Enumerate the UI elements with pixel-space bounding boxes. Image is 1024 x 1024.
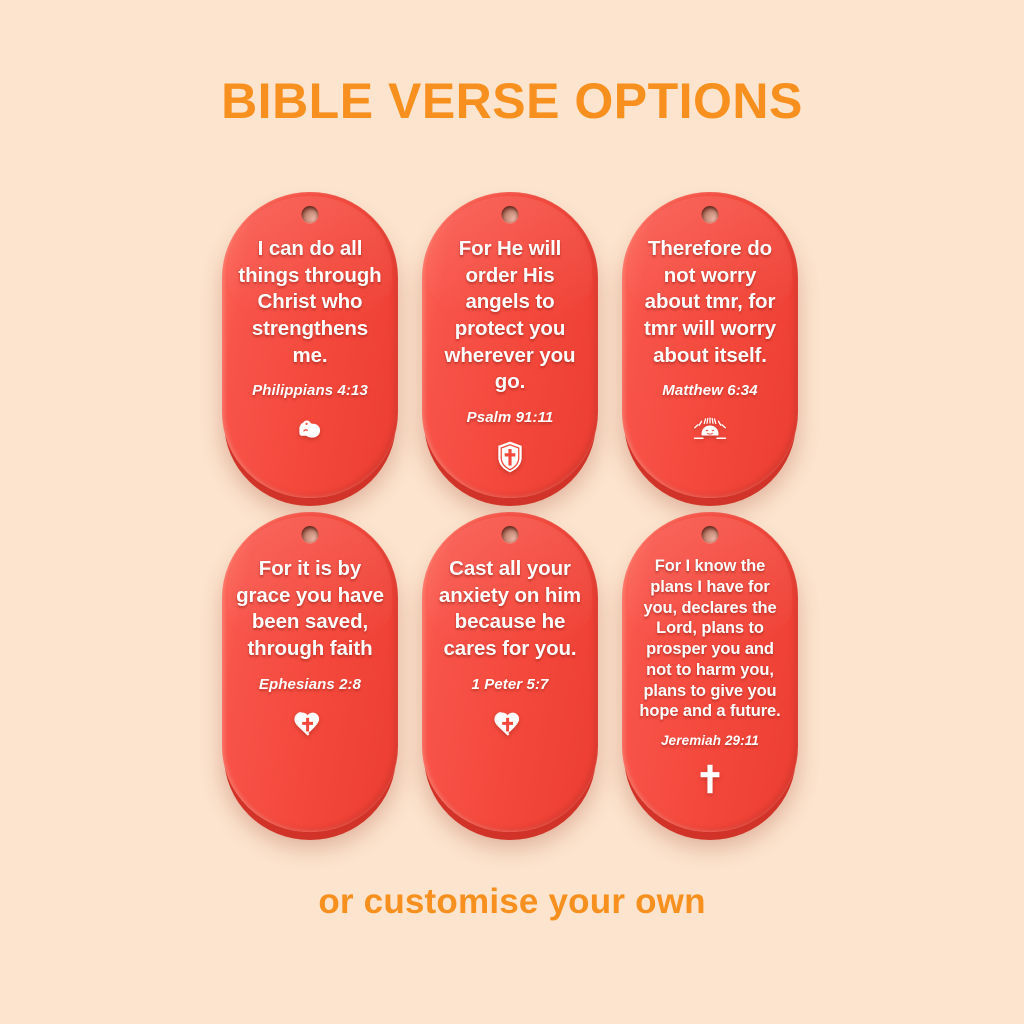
dog-tag-body[interactable]: Cast all your anxiety on him because he …	[422, 512, 598, 832]
tag-hole	[502, 526, 519, 543]
verse-text: For it is by grace you have been saved, …	[232, 556, 388, 663]
dog-tag-body[interactable]: Therefore do not worry about tmr, for tm…	[622, 192, 798, 498]
verse-reference: 1 Peter 5:7	[472, 676, 549, 693]
verse-reference: Matthew 6:34	[662, 382, 757, 399]
tag-hole	[702, 526, 719, 543]
verse-text: For I know the plans I have for you, dec…	[632, 556, 788, 722]
flexed-bicep-icon	[292, 412, 328, 448]
tag-option-5[interactable]: Cast all your anxiety on him because he …	[422, 512, 598, 832]
tag-hole	[502, 206, 519, 223]
tag-option-1[interactable]: I can do all things through Christ who s…	[222, 192, 398, 498]
tag-content: I can do all things through Christ who s…	[222, 192, 398, 498]
bible-verse-options-poster: BIBLE VERSE OPTIONS I can do all things …	[0, 0, 1024, 1024]
heart-cross-icon	[292, 706, 328, 742]
tag-content: For He will order His angels to protect …	[422, 192, 598, 498]
verse-text: Therefore do not worry about tmr, for tm…	[632, 236, 788, 369]
shield-cross-icon	[492, 439, 528, 475]
tag-option-2[interactable]: For He will order His angels to protect …	[422, 192, 598, 498]
tag-option-3[interactable]: Therefore do not worry about tmr, for tm…	[622, 192, 798, 498]
tag-content: For it is by grace you have been saved, …	[222, 512, 398, 832]
verse-reference: Psalm 91:11	[467, 409, 554, 426]
verse-reference: Ephesians 2:8	[259, 676, 361, 693]
verse-reference: Philippians 4:13	[252, 382, 368, 399]
verse-text: For He will order His angels to protect …	[432, 236, 588, 396]
dog-tag-body[interactable]: For it is by grace you have been saved, …	[222, 512, 398, 832]
tag-content: Cast all your anxiety on him because he …	[422, 512, 598, 832]
tag-content: For I know the plans I have for you, dec…	[622, 512, 798, 832]
page-title: BIBLE VERSE OPTIONS	[0, 76, 1024, 126]
tag-hole	[702, 206, 719, 223]
dog-tag-body[interactable]: For He will order His angels to protect …	[422, 192, 598, 498]
verse-text: I can do all things through Christ who s…	[232, 236, 388, 369]
verse-reference: Jeremiah 29:11	[661, 733, 759, 748]
dog-tag-body[interactable]: I can do all things through Christ who s…	[222, 192, 398, 498]
heart-cross-icon	[492, 706, 528, 742]
tag-option-4[interactable]: For it is by grace you have been saved, …	[222, 512, 398, 832]
customise-note: or customise your own	[0, 884, 1024, 919]
tag-option-6[interactable]: For I know the plans I have for you, dec…	[622, 512, 798, 832]
tag-grid: I can do all things through Christ who s…	[222, 192, 806, 832]
cross-icon	[692, 761, 728, 797]
tag-content: Therefore do not worry about tmr, for tm…	[622, 192, 798, 498]
verse-text: Cast all your anxiety on him because he …	[432, 556, 588, 663]
sunrise-smile-icon	[692, 412, 728, 448]
tag-hole	[302, 526, 319, 543]
tag-hole	[302, 206, 319, 223]
dog-tag-body[interactable]: For I know the plans I have for you, dec…	[622, 512, 798, 832]
